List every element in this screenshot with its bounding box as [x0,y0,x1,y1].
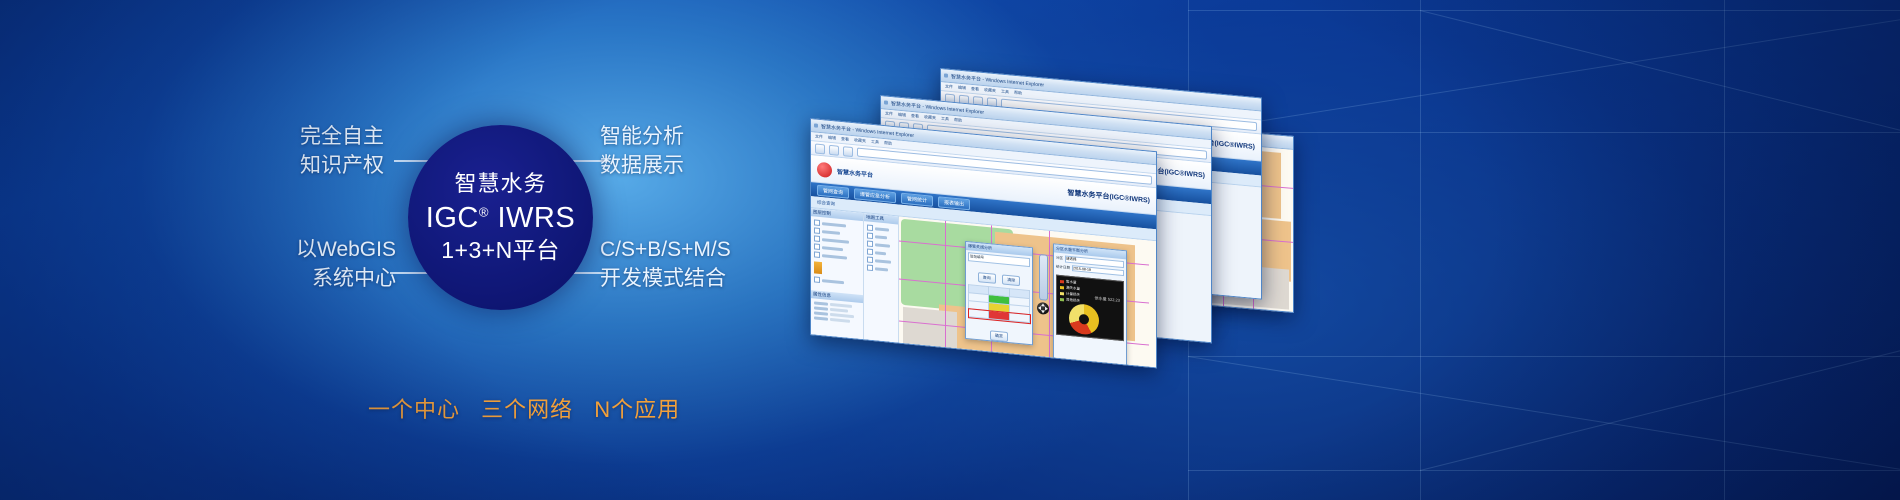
platform-title: 智慧水务平台(IGC®IWRS) [1067,188,1150,206]
grid-line-diagonal [1188,356,1900,487]
menu-item[interactable]: 收藏夹 [924,114,936,121]
window-icon [884,100,888,104]
feature-line-1: 完全自主 [300,123,384,152]
tree-label [822,238,849,244]
donut-chart-panel: 售水量 漏失水量 计量损失 其他损失 供水量 522.23 [1056,275,1124,342]
feature-line-1: C/S+B/S+M/S [600,236,731,265]
tool-icon[interactable] [867,224,873,231]
map-road [945,221,946,363]
tool-label [875,227,889,231]
menu-item[interactable]: 文件 [945,83,953,90]
refresh-icon[interactable] [843,146,853,157]
window-icon [944,73,948,77]
hub-line-1: 智慧水务 [454,171,546,197]
feature-line-2: 开发模式结合 [600,265,731,294]
tool-icon[interactable] [867,264,873,271]
tagline-part-1: 一个中心 [368,397,460,422]
attr-key [814,306,828,310]
menu-item[interactable]: 编辑 [828,135,836,142]
tool-item[interactable] [867,256,895,265]
grid-line-horizontal [1188,10,1900,11]
menu-item[interactable]: 查看 [911,113,919,120]
checkbox-icon[interactable] [814,227,820,234]
map-canvas[interactable]: 爆管关阀分析 管段编号 查询 清除 [899,217,1156,369]
hub-line-2: IGC® IWRS [426,201,575,235]
nav-tab[interactable]: 管网统计 [901,192,933,206]
dialog-date-label: 统计日期 [1056,264,1070,270]
brand-name: 智慧水务平台 [837,166,873,178]
checkbox-icon[interactable] [814,243,820,250]
legend-gradient [814,261,822,274]
tool-label [875,235,887,239]
menu-item[interactable]: 收藏夹 [984,87,996,94]
feature-line-1: 智能分析 [600,123,684,152]
tree-label [822,246,843,251]
tool-label [875,259,891,264]
dialog-clear-button[interactable]: 清除 [1002,274,1020,286]
attr-val [830,308,848,313]
nav-tab[interactable]: 管网查询 [817,184,849,198]
layer-panel[interactable]: 图层控制 属性信息 [811,208,864,355]
window-front-frame[interactable]: 智慧水务平台 - Windows Internet Explorer 文件 编辑… [810,118,1157,368]
tree-label [822,254,847,259]
checkbox-icon[interactable] [814,251,820,258]
tagline: 一个中心 三个网络 N个应用 [368,392,680,424]
legend-label: 售水量 [1066,280,1077,286]
dialog-field-label: 分区 [1056,256,1063,262]
dialog-body: 管段编号 查询 清除 [966,250,1032,347]
hub-circle: 智慧水务 IGC® IWRS 1+3+N平台 [408,125,593,310]
dialog-body: 分区 请选择 统计日期 2015-08-18 查询 售水量 [1054,252,1126,298]
feature-line-2: 系统中心 [296,265,396,294]
checkbox-icon[interactable] [814,235,820,242]
grid-line-diagonal [1188,2,1900,133]
forward-icon[interactable] [829,144,839,155]
menu-item[interactable]: 帮助 [884,140,892,147]
menu-item[interactable]: 工具 [1001,89,1009,96]
menu-item[interactable]: 编辑 [898,112,906,119]
attr-key [814,316,828,320]
map-road [1049,231,1050,368]
menu-item[interactable]: 查看 [971,86,979,93]
feature-bottom-right: C/S+B/S+M/S 开发模式结合 [600,236,731,294]
grid-line-horizontal [1188,132,1900,133]
feature-bottom-left: 以WebGIS 系统中心 [296,236,396,294]
dialog-ok-button[interactable]: 确定 [990,330,1008,342]
tree-label [822,230,840,235]
menu-item[interactable]: 收藏夹 [854,137,866,144]
attr-key [814,311,828,315]
window-icon [814,123,818,127]
tree-label [822,279,844,284]
tool-icon[interactable] [867,240,873,247]
map-tool-panel[interactable]: 地图工具 [864,213,899,358]
dialog-water-quality[interactable]: 分区水量平衡分析 分区 请选择 统计日期 2015-08-18 查询 [1053,243,1127,368]
menu-item[interactable]: 帮助 [954,117,962,124]
hub-brand-tail: IWRS [498,202,576,234]
concept-diagram: 完全自主 知识产权 以WebGIS 系统中心 智能分析 数据展示 C/S+B/S… [0,0,800,500]
menu-item[interactable]: 文件 [815,133,823,140]
menu-item[interactable]: 工具 [871,139,879,146]
tool-item[interactable] [867,240,895,249]
chart-total-label: 供水量 522.23 [1095,295,1120,303]
checkbox-icon[interactable] [814,219,820,226]
menu-item[interactable]: 编辑 [958,85,966,92]
attr-val [830,318,850,323]
tool-icon[interactable] [867,256,873,263]
grid-line-vertical [1420,0,1421,500]
tool-label [875,267,888,271]
zoom-slider[interactable] [1039,254,1048,301]
feature-line-2: 知识产权 [300,152,384,181]
back-icon[interactable] [815,143,825,154]
tree-item[interactable] [814,276,860,286]
registered-icon: ® [479,204,489,219]
checkbox-icon[interactable] [814,276,820,283]
nav-tab[interactable]: 报表输出 [938,196,970,210]
tool-icon[interactable] [867,232,873,239]
menu-item[interactable]: 工具 [941,116,949,123]
logo-icon [817,161,832,177]
dialog-table [968,284,1030,323]
tool-item[interactable] [867,248,895,257]
menu-item[interactable]: 文件 [885,110,893,117]
pan-navigation-pad[interactable] [1037,302,1049,315]
hub-brand-main: IGC [426,202,479,234]
dialog-query-button[interactable]: 查询 [978,272,996,284]
feature-line-2: 数据展示 [600,152,684,181]
tool-item[interactable] [867,264,895,273]
tool-label [875,251,886,255]
attr-key [814,301,828,305]
tagline-part-3: N个应用 [594,397,680,422]
menu-item[interactable]: 查看 [841,136,849,143]
feature-line-1: 以WebGIS [296,236,396,265]
grid-line-vertical [1724,0,1725,500]
grid-line-diagonal [1420,335,1900,471]
tool-label [875,243,890,247]
tool-item[interactable] [867,232,895,241]
feature-top-right: 智能分析 数据展示 [600,123,684,181]
grid-line-diagonal [1420,10,1900,146]
feature-top-left: 完全自主 知识产权 [300,123,384,181]
tool-item[interactable] [867,224,895,233]
grid-line-horizontal [1188,470,1900,471]
tree-label [822,222,846,227]
hub-line-3: 1+3+N平台 [441,237,560,264]
banner-root: 管网地图 监测曲线 压力曲线 [0,0,1900,500]
sub-item[interactable]: 综合查询 [817,199,835,207]
grid-line-horizontal [1188,356,1900,357]
map-zone-gray [903,307,957,362]
legend-label: 其他损失 [1066,298,1080,304]
donut-chart [1069,303,1099,336]
menu-item[interactable]: 帮助 [1014,90,1022,97]
tagline-part-2: 三个网络 [481,397,573,422]
dialog-valve-analysis[interactable]: 爆管关阀分析 管段编号 查询 清除 [965,241,1033,346]
tool-icon[interactable] [867,248,873,255]
